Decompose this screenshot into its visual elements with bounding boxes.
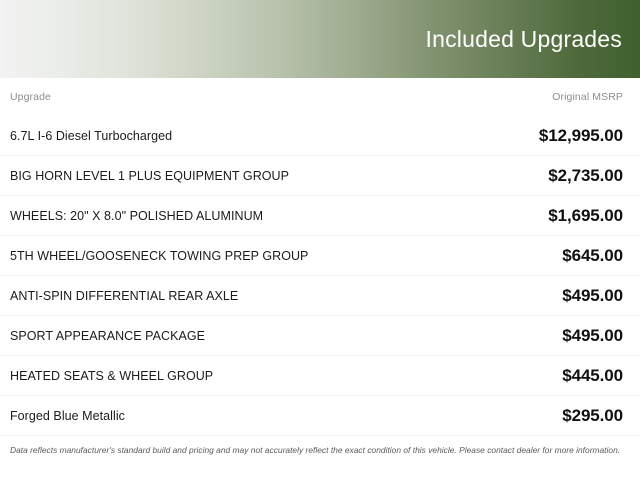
upgrade-name: SPORT APPEARANCE PACKAGE xyxy=(10,329,217,343)
upgrade-name: Forged Blue Metallic xyxy=(10,409,137,423)
upgrade-price: $12,995.00 xyxy=(539,126,623,146)
column-header-upgrade: Upgrade xyxy=(10,91,51,103)
upgrade-price: $495.00 xyxy=(562,286,623,306)
upgrade-name: WHEELS: 20" X 8.0" POLISHED ALUMINUM xyxy=(10,209,275,223)
upgrade-price: $495.00 xyxy=(562,326,623,346)
table-row: WHEELS: 20" X 8.0" POLISHED ALUMINUM$1,6… xyxy=(0,196,640,236)
table-row: 6.7L I-6 Diesel Turbocharged$12,995.00 xyxy=(0,116,640,156)
page-header-banner: Included Upgrades xyxy=(0,0,640,78)
upgrade-name: BIG HORN LEVEL 1 PLUS EQUIPMENT GROUP xyxy=(10,169,301,183)
upgrade-name: 5TH WHEEL/GOOSENECK TOWING PREP GROUP xyxy=(10,249,320,263)
upgrade-name: HEATED SEATS & WHEEL GROUP xyxy=(10,369,225,383)
disclaimer-text: Data reflects manufacturer's standard bu… xyxy=(10,445,630,456)
table-row: 5TH WHEEL/GOOSENECK TOWING PREP GROUP$64… xyxy=(0,236,640,276)
upgrade-name: ANTI-SPIN DIFFERENTIAL REAR AXLE xyxy=(10,289,250,303)
upgrade-price: $445.00 xyxy=(562,366,623,386)
table-row: BIG HORN LEVEL 1 PLUS EQUIPMENT GROUP$2,… xyxy=(0,156,640,196)
upgrade-price: $1,695.00 xyxy=(548,206,623,226)
upgrade-price: $645.00 xyxy=(562,246,623,266)
table-row: ANTI-SPIN DIFFERENTIAL REAR AXLE$495.00 xyxy=(0,276,640,316)
table-column-headers: Upgrade Original MSRP xyxy=(0,78,640,116)
page-title: Included Upgrades xyxy=(426,28,622,51)
footer: Data reflects manufacturer's standard bu… xyxy=(0,436,640,456)
table-row: SPORT APPEARANCE PACKAGE$495.00 xyxy=(0,316,640,356)
column-header-original-msrp: Original MSRP xyxy=(552,91,623,103)
upgrade-price: $2,735.00 xyxy=(548,166,623,186)
upgrade-price: $295.00 xyxy=(562,406,623,426)
table-row: HEATED SEATS & WHEEL GROUP$445.00 xyxy=(0,356,640,396)
table-row: Forged Blue Metallic$295.00 xyxy=(0,396,640,436)
upgrades-table: 6.7L I-6 Diesel Turbocharged$12,995.00BI… xyxy=(0,116,640,436)
upgrade-name: 6.7L I-6 Diesel Turbocharged xyxy=(10,129,184,143)
included-upgrades-page: Included Upgrades Upgrade Original MSRP … xyxy=(0,0,640,480)
